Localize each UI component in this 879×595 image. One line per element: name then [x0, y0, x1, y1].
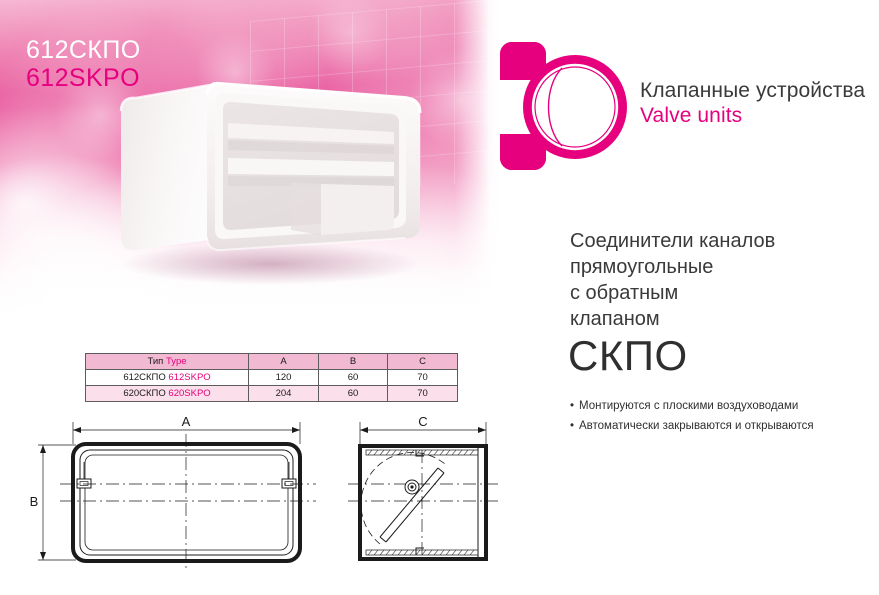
front-view-drawing [38, 422, 316, 571]
cell-type-en: 620SKPO [168, 388, 210, 399]
cell-c: 70 [388, 386, 458, 402]
description-line-2: прямоугольные [570, 254, 870, 280]
table-header-row: Тип Type A B C [86, 354, 458, 370]
feature-item: • Монтируются с плоскими воздуховодами [570, 398, 870, 415]
product-photo [95, 78, 485, 298]
cell-b: 60 [319, 386, 388, 402]
category-badge [500, 42, 630, 170]
side-view-drawing [348, 422, 498, 559]
dimension-label-c: C [418, 414, 427, 429]
header-type-ru: Тип [147, 356, 163, 367]
cell-type: 612СКПО 612SKPO [86, 370, 249, 386]
column-header-type: Тип Type [86, 354, 249, 370]
column-header-a: A [249, 354, 319, 370]
description-line-4: клапаном [570, 306, 870, 332]
hero-title: 612СКПО 612SKPO [26, 36, 141, 92]
cell-a: 204 [249, 386, 319, 402]
cell-b: 60 [319, 370, 388, 386]
description-line-1: Соединители каналов [570, 228, 870, 254]
dimension-label-b: B [30, 494, 39, 509]
cell-c: 70 [388, 370, 458, 386]
cell-type: 620СКПО 620SKPO [86, 386, 249, 402]
cell-type-ru: 612СКПО [123, 372, 165, 383]
category-label: Клапанные устройства Valve units [640, 78, 865, 128]
bullet-icon: • [570, 418, 579, 435]
column-header-c: C [388, 354, 458, 370]
technical-drawings: A B C [28, 404, 508, 584]
feature-list: • Монтируются с плоскими воздуховодами •… [570, 398, 870, 437]
dimension-label-a: A [182, 414, 191, 429]
specification-table: Тип Type A B C 612СКПО 612SKPO 120 60 70… [85, 353, 458, 402]
catalog-page: 612СКПО 612SKPO Клапанные устройства Val… [0, 0, 879, 595]
header-type-en: Type [166, 356, 187, 367]
table-row: 620СКПО 620SKPO 204 60 70 [86, 386, 458, 402]
cell-type-ru: 620СКПО [123, 388, 165, 399]
model-title: СКПО [568, 335, 688, 377]
category-label-en: Valve units [640, 103, 865, 128]
category-label-ru: Клапанные устройства [640, 78, 865, 103]
feature-text: Монтируются с плоскими воздуховодами [579, 398, 798, 415]
cell-type-en: 612SKPO [168, 372, 210, 383]
table-row: 612СКПО 612SKPO 120 60 70 [86, 370, 458, 386]
hero-title-en: 612SKPO [26, 64, 141, 92]
bullet-icon: • [570, 398, 579, 415]
cell-a: 120 [249, 370, 319, 386]
feature-item: • Автоматически закрываются и открываютс… [570, 418, 870, 435]
product-description: Соединители каналов прямоугольные с обра… [570, 228, 870, 332]
feature-text: Автоматически закрываются и открываются [579, 418, 814, 435]
column-header-b: B [319, 354, 388, 370]
hero-title-ru: 612СКПО [26, 36, 141, 64]
description-line-3: с обратным [570, 280, 870, 306]
